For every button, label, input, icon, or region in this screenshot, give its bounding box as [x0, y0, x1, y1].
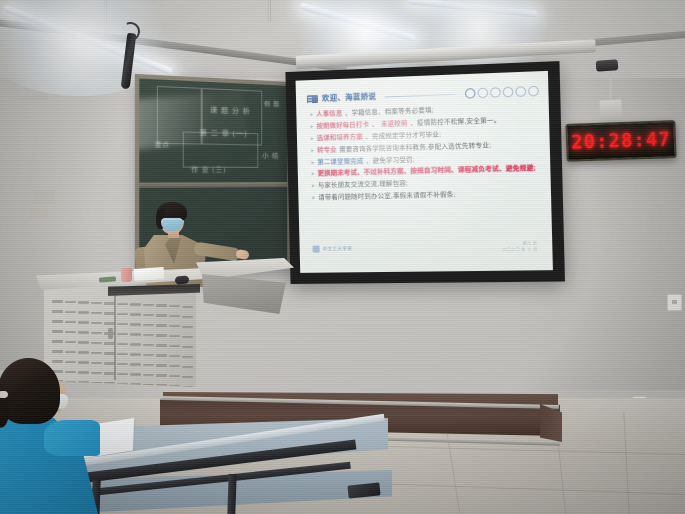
cabinet-vent-slot [169, 305, 180, 308]
seated-student [0, 358, 122, 514]
slide-content: 欢迎、海蓝娇说 ➤人事信息、学籍信息、档案等务必要填;➤按期做好每日打卡、未返校… [296, 71, 553, 273]
wall-scuff [33, 190, 55, 204]
cabinet-handle [108, 328, 113, 339]
wall-scuff [18, 95, 48, 100]
cabinet-vent-slot [169, 325, 180, 328]
clock-mount-bracket [599, 99, 622, 122]
cabinet-vent-slot [143, 374, 154, 377]
cabinet-vent-slot [169, 315, 180, 318]
cabinet-vent-slot [117, 333, 128, 336]
bullet-arrow-icon: ➤ [311, 173, 315, 179]
cabinet-vent-slot [91, 342, 102, 345]
cabinet-vent-slot [182, 346, 193, 349]
computer-mouse [175, 275, 190, 284]
cabinet-vent-slot [143, 324, 154, 327]
cabinet-vent-slot [156, 304, 167, 307]
bullet-arrow-icon: ➤ [310, 125, 314, 131]
white-papers [134, 267, 165, 281]
bullet-arrow-icon: ➤ [310, 137, 314, 143]
classroom-photo: 课 题 分 析 第 二 章 (一) 作 业 (三) 小 结 例 题 重点 欢迎、… [0, 0, 685, 514]
header-dot-icon [528, 86, 539, 97]
cabinet-vent-slot [143, 344, 154, 347]
footer-mark-icon [313, 246, 320, 253]
cabinet-vent-slot [156, 374, 167, 377]
cabinet-vent-slot [169, 375, 180, 378]
cabinet-vent-slot [182, 326, 193, 329]
pink-cup [121, 268, 132, 282]
header-dot-icon [465, 88, 476, 99]
cabinet-vent-slot [182, 336, 193, 339]
cabinet-vent-slot [169, 335, 180, 338]
desk-leg [227, 474, 236, 514]
bullet-arrow-icon: ➤ [310, 161, 314, 167]
cabinet-vent-slot [117, 303, 128, 306]
cabinet-vent-slot [182, 376, 193, 379]
slide-bullet-segment: 、疫情防控不松懈,安全第一。 [410, 117, 501, 127]
cabinet-vent-slot [143, 354, 154, 357]
slide-header: 欢迎、海蓝娇说 [307, 86, 539, 105]
bullet-arrow-icon: ➤ [311, 197, 315, 203]
cabinet-vent-slot [52, 320, 63, 323]
slide-bullet-segment: 未返校前 [381, 120, 408, 128]
dark-smartphone [347, 482, 380, 498]
lectern-side-extension [196, 258, 296, 316]
slide-bullet: ➤请带着问题随时到办公室,事假未请假不补假条; [311, 190, 541, 203]
cabinet-vent-slot [130, 373, 141, 376]
cabinet-vent-slot [52, 300, 63, 303]
wall-scuff [596, 218, 622, 227]
slide-bullet-segment: 选课和培养方案 [317, 133, 363, 142]
cabinet-vent-slot [52, 330, 63, 333]
cabinet-vent-slot [65, 341, 76, 344]
cabinet-vent-slot [65, 331, 76, 334]
cabinet-vent-slot [117, 313, 128, 316]
chalk-writing: 例 题 [264, 99, 280, 109]
cabinet-vent-slot [91, 332, 102, 335]
cabinet-vent-slot [130, 353, 141, 356]
cabinet-vent-slot [156, 314, 167, 317]
bullet-arrow-icon: ➤ [311, 185, 315, 191]
cabinet-vent-slot [91, 352, 102, 355]
slide-bullet-segment: 更换期末考试、不过补科方案、按规自习时间、课程减负考试、避免规避; [318, 165, 536, 178]
wall-speaker [596, 59, 619, 72]
cabinet-vent-slot [52, 350, 63, 353]
slide-footer-text: 中文工大字资 [323, 246, 353, 252]
wall-scuff [30, 208, 48, 218]
cabinet-vent-slot [91, 302, 102, 305]
side-desk-panel [202, 274, 286, 314]
slide-footer: 中文工大字资 [313, 245, 353, 253]
cabinet-vent-slot [117, 353, 128, 356]
cabinet-vent-slot [156, 344, 167, 347]
chalk-writing: 小 结 [262, 150, 279, 160]
cabinet-vent-slot [143, 314, 154, 317]
cabinet-vent-slot [169, 355, 180, 358]
cabinet-vent-slot [182, 356, 193, 359]
cabinet-vent-slot [143, 334, 154, 337]
cabinet-vent-slot [182, 316, 193, 319]
slide-divider [384, 93, 456, 97]
slide-bullet-segment: 、 [372, 121, 379, 128]
slide-bullet-segment: 、避免学习受罚; [366, 156, 415, 165]
slide-credit-line: 二〇二〇 年 十 月 [502, 247, 537, 254]
cabinet-vent-slot [169, 365, 180, 368]
cabinet-vent-slot [78, 301, 89, 304]
slide-bullet-segment: 与家长朋友交流交流,理解包容; [318, 180, 408, 189]
cabinet-vent-slot [65, 301, 76, 304]
cabinet-vent-slot [156, 334, 167, 337]
cabinet-vent-slot [52, 310, 63, 313]
slide-header-dots [465, 86, 539, 99]
header-dot-icon [515, 86, 526, 97]
bullet-arrow-icon: ➤ [310, 149, 314, 155]
projected-slide: 欢迎、海蓝娇说 ➤人事信息、学籍信息、档案等务必要填;➤按期做好每日打卡、未返校… [296, 71, 553, 273]
cabinet-vent-slot [91, 312, 102, 315]
slide-bullet-segment: 需要咨询各学院咨询本科教务,参配入选优先转专业; [339, 142, 491, 154]
cabinet-vent-slot [182, 306, 193, 309]
cabinet-vent-slot [156, 364, 167, 367]
slide-bullet-segment: 、完成规定学分才可毕业; [365, 131, 441, 141]
cabinet-vent-slot [130, 383, 141, 386]
slide-bullet-segment: 第二课堂需完成 [317, 157, 363, 165]
cabinet-vent-slot [91, 322, 102, 325]
cabinet-vent-slot [143, 304, 154, 307]
slide-list-icon [307, 95, 318, 103]
cabinet-vent-slot [156, 384, 167, 387]
projection-screen: 欢迎、海蓝娇说 ➤人事信息、学籍信息、档案等务必要填;➤按期做好每日打卡、未返校… [285, 61, 565, 284]
cabinet-vent-slot [156, 324, 167, 327]
cabinet-vent-slot [130, 313, 141, 316]
cabinet-vent-slot [130, 323, 141, 326]
cabinet-vent-slot [156, 354, 167, 357]
cabinet-vent-slot [78, 341, 89, 344]
cabinet-vent-slot [130, 333, 141, 336]
header-dot-icon [503, 87, 514, 98]
cabinet-vent-slot [65, 321, 76, 324]
cabinet-vent-slot [130, 343, 141, 346]
slide-bullet-segment: 、学籍信息、档案等务必要填; [345, 107, 434, 117]
cabinet-vent-slot [78, 331, 89, 334]
cabinet-vent-slot [169, 345, 180, 348]
slide-bullet-segment: 转专业 [317, 146, 337, 154]
slide-title: 欢迎、海蓝娇说 [322, 92, 377, 104]
student-hair-tie [0, 391, 8, 398]
slide-bullet-segment: 人事信息 [316, 110, 342, 118]
chalk-writing: 作 业 (三) [191, 163, 226, 174]
bullet-arrow-icon: ➤ [309, 113, 313, 119]
led-wall-clock: 20:28:47 [565, 120, 676, 162]
cabinet-vent-slot [130, 303, 141, 306]
cabinet-vent-slot [78, 351, 89, 354]
cabinet-vent-slot [78, 321, 89, 324]
slide-bullet: ➤更换期末考试、不过补科方案、按规自习时间、课程减负考试、避免规避; [311, 165, 541, 179]
student-hair [0, 358, 60, 424]
power-outlet [667, 294, 682, 311]
cabinet-vent-slot [52, 340, 63, 343]
cabinet-vent-slot [65, 311, 76, 314]
slide-bullet-list: ➤人事信息、学籍信息、档案等务必要填;➤按期做好每日打卡、未返校前、疫情防控不松… [309, 103, 541, 202]
blackboard-divider [139, 182, 287, 188]
cabinet-vent-slot [143, 384, 154, 387]
cabinet-vent-slot [65, 351, 76, 354]
cabinet-vent-slot [182, 366, 193, 369]
cabinet-vent-slot [78, 311, 89, 314]
ceiling-pipe [268, 0, 271, 22]
student-shoulder [44, 420, 100, 456]
cabinet-vent-slot [130, 363, 141, 366]
cabinet-vent-slot [117, 343, 128, 346]
slide-bullet-segment: 按期做好每日打卡 [316, 121, 369, 130]
slide-bullet: ➤与家长朋友交流交流,理解包容; [311, 177, 541, 190]
header-dot-icon [477, 88, 488, 99]
cabinet-vent-slot [143, 364, 154, 367]
slide-bullet: ➤转专业 需要咨询各学院咨询本科教务,参配入选优先转专业; [310, 140, 540, 154]
clock-time: 20:28:47 [571, 128, 671, 153]
header-dot-icon [490, 87, 501, 98]
slide-credit: 第几 页 二〇二〇 年 十 月 [502, 240, 538, 253]
slide-bullet-segment: 请带着问题随时到办公室,事假未请假不补假条; [318, 192, 456, 202]
cabinet-vent-slot [117, 323, 128, 326]
